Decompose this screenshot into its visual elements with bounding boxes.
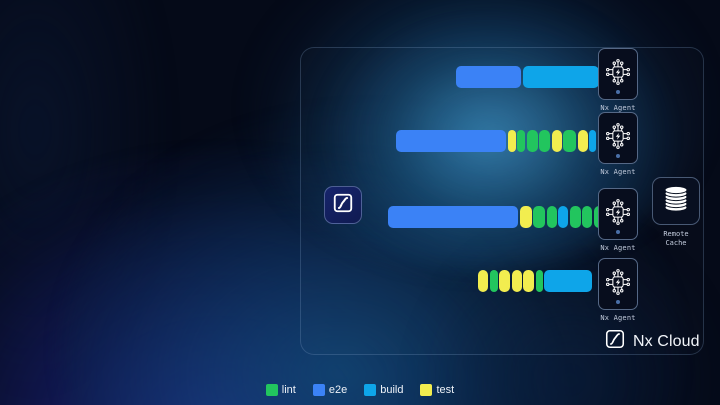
task-segment-test[interactable] <box>523 270 534 292</box>
legend-label: lint <box>282 384 296 396</box>
agent-status-dot <box>616 154 620 158</box>
agent-status-dot <box>616 230 620 234</box>
agent-card-3[interactable]: Nx Agent <box>598 188 638 252</box>
task-segment-build[interactable] <box>544 270 592 292</box>
remote-cache-label-line2: Cache <box>652 239 700 248</box>
task-segment-lint[interactable] <box>563 130 576 152</box>
task-segment-lint[interactable] <box>570 206 581 228</box>
legend-item-test[interactable]: test <box>420 384 454 396</box>
chip-icon <box>604 120 632 157</box>
task-segment-build[interactable] <box>589 130 596 152</box>
chip-icon <box>604 56 632 93</box>
task-segment-e2e[interactable] <box>456 66 521 88</box>
task-segment-lint[interactable] <box>533 206 545 228</box>
nx-cloud-icon <box>604 328 626 355</box>
nx-logo-badge[interactable] <box>324 186 362 224</box>
legend-swatch-e2e <box>313 384 325 396</box>
legend-swatch-build <box>364 384 376 396</box>
task-segment-test[interactable] <box>512 270 522 292</box>
agent-label: Nx Agent <box>598 104 638 112</box>
agent-status-dot <box>616 300 620 304</box>
legend-label: e2e <box>329 384 347 396</box>
task-segment-lint[interactable] <box>539 130 550 152</box>
remote-cache-box[interactable] <box>652 177 700 225</box>
legend-label: build <box>380 384 403 396</box>
agent-label: Nx Agent <box>598 314 638 322</box>
chip-icon <box>604 266 632 303</box>
remote-cache-label-line1: Remote <box>652 230 700 239</box>
legend-item-e2e[interactable]: e2e <box>313 384 347 396</box>
legend-swatch-lint <box>266 384 278 396</box>
legend-swatch-test <box>420 384 432 396</box>
task-segment-e2e[interactable] <box>396 130 506 152</box>
task-segment-e2e[interactable] <box>388 206 518 228</box>
agent-card-2[interactable]: Nx Agent <box>598 112 638 176</box>
task-segment-test[interactable] <box>478 270 488 292</box>
gantt-row <box>478 270 592 292</box>
task-segment-build[interactable] <box>523 66 599 88</box>
agent-status-dot <box>616 90 620 94</box>
agent-icon-box[interactable] <box>598 48 638 100</box>
chip-icon <box>604 196 632 233</box>
nx-cloud-label: Nx Cloud <box>633 333 700 351</box>
task-segment-lint[interactable] <box>547 206 557 228</box>
agent-icon-box[interactable] <box>598 112 638 164</box>
remote-cache[interactable]: Remote Cache <box>652 177 700 249</box>
task-segment-build[interactable] <box>558 206 568 228</box>
task-segment-test[interactable] <box>499 270 510 292</box>
database-stack-icon <box>662 184 690 219</box>
task-segment-lint[interactable] <box>536 270 543 292</box>
task-segment-test[interactable] <box>578 130 588 152</box>
legend-item-build[interactable]: build <box>364 384 403 396</box>
task-segment-lint[interactable] <box>490 270 498 292</box>
remote-cache-label: Remote Cache <box>652 230 700 249</box>
task-segment-test[interactable] <box>520 206 532 228</box>
task-segment-lint[interactable] <box>582 206 592 228</box>
agent-label: Nx Agent <box>598 244 638 252</box>
agent-label: Nx Agent <box>598 168 638 176</box>
gantt-row <box>456 66 599 88</box>
agent-card-1[interactable]: Nx Agent <box>598 48 638 112</box>
gantt-row <box>388 206 605 228</box>
agent-icon-box[interactable] <box>598 258 638 310</box>
task-segment-lint[interactable] <box>517 130 525 152</box>
task-segment-test[interactable] <box>552 130 562 152</box>
legend-item-lint[interactable]: lint <box>266 384 296 396</box>
task-segment-test[interactable] <box>508 130 516 152</box>
gantt-row <box>396 130 605 152</box>
task-segment-lint[interactable] <box>527 130 538 152</box>
legend: linte2ebuildtest <box>0 384 720 396</box>
legend-label: test <box>436 384 454 396</box>
nx-cloud-badge[interactable]: Nx Cloud <box>604 328 700 355</box>
agent-icon-box[interactable] <box>598 188 638 240</box>
nx-logo-icon <box>332 192 354 219</box>
agent-card-4[interactable]: Nx Agent <box>598 258 638 322</box>
